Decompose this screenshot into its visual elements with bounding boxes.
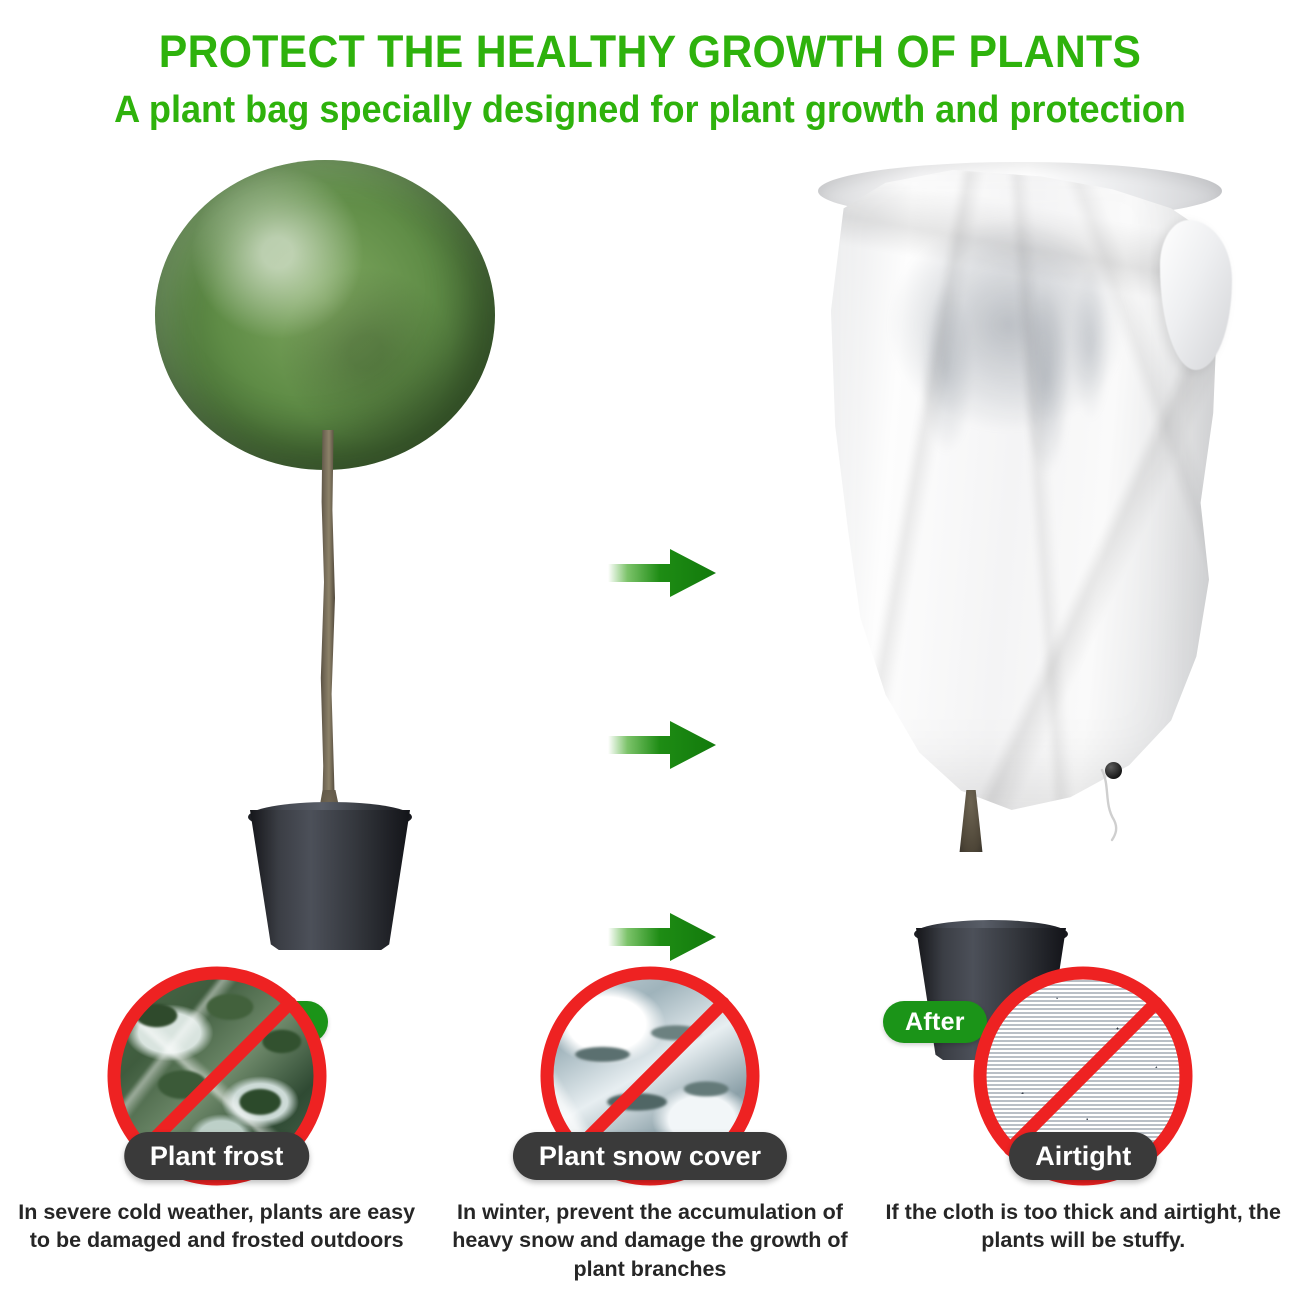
arrow-right-icon [608,546,716,600]
covered-tree-trunk [958,790,984,852]
page-title: PROTECT THE HEALTHY GROWTH OF PLANTS [33,28,1268,75]
after-plant-image [790,150,1250,960]
feature-card-plant-frost: Plant frost In severe cold weather, plan… [0,960,433,1300]
infographic-page: PROTECT THE HEALTHY GROWTH OF PLANTS A p… [0,0,1300,1300]
header: PROTECT THE HEALTHY GROWTH OF PLANTS A p… [0,0,1300,131]
feature-card-airtight: Airtight If the cloth is too thick and a… [867,960,1300,1300]
feature-row: Plant frost In severe cold weather, plan… [0,960,1300,1300]
feature-badge: Plant frost [124,1132,310,1180]
before-after-comparison: Before After [0,150,1300,960]
arrow-right-icon [608,910,716,964]
feature-description: In severe cold weather, plants are easy … [18,1198,415,1255]
feature-badge: Airtight [1009,1132,1157,1180]
drawstring-cord [1094,764,1158,842]
feature-badge: Plant snow cover [513,1132,787,1180]
feature-description: If the cloth is too thick and airtight, … [885,1198,1282,1255]
feature-description: In winter, prevent the accumulation of h… [451,1198,848,1283]
arrow-right-icon [608,718,716,772]
feature-card-plant-snow-cover: Plant snow cover In winter, prevent the … [433,960,866,1300]
page-subtitle: A plant bag specially designed for plant… [33,91,1268,131]
